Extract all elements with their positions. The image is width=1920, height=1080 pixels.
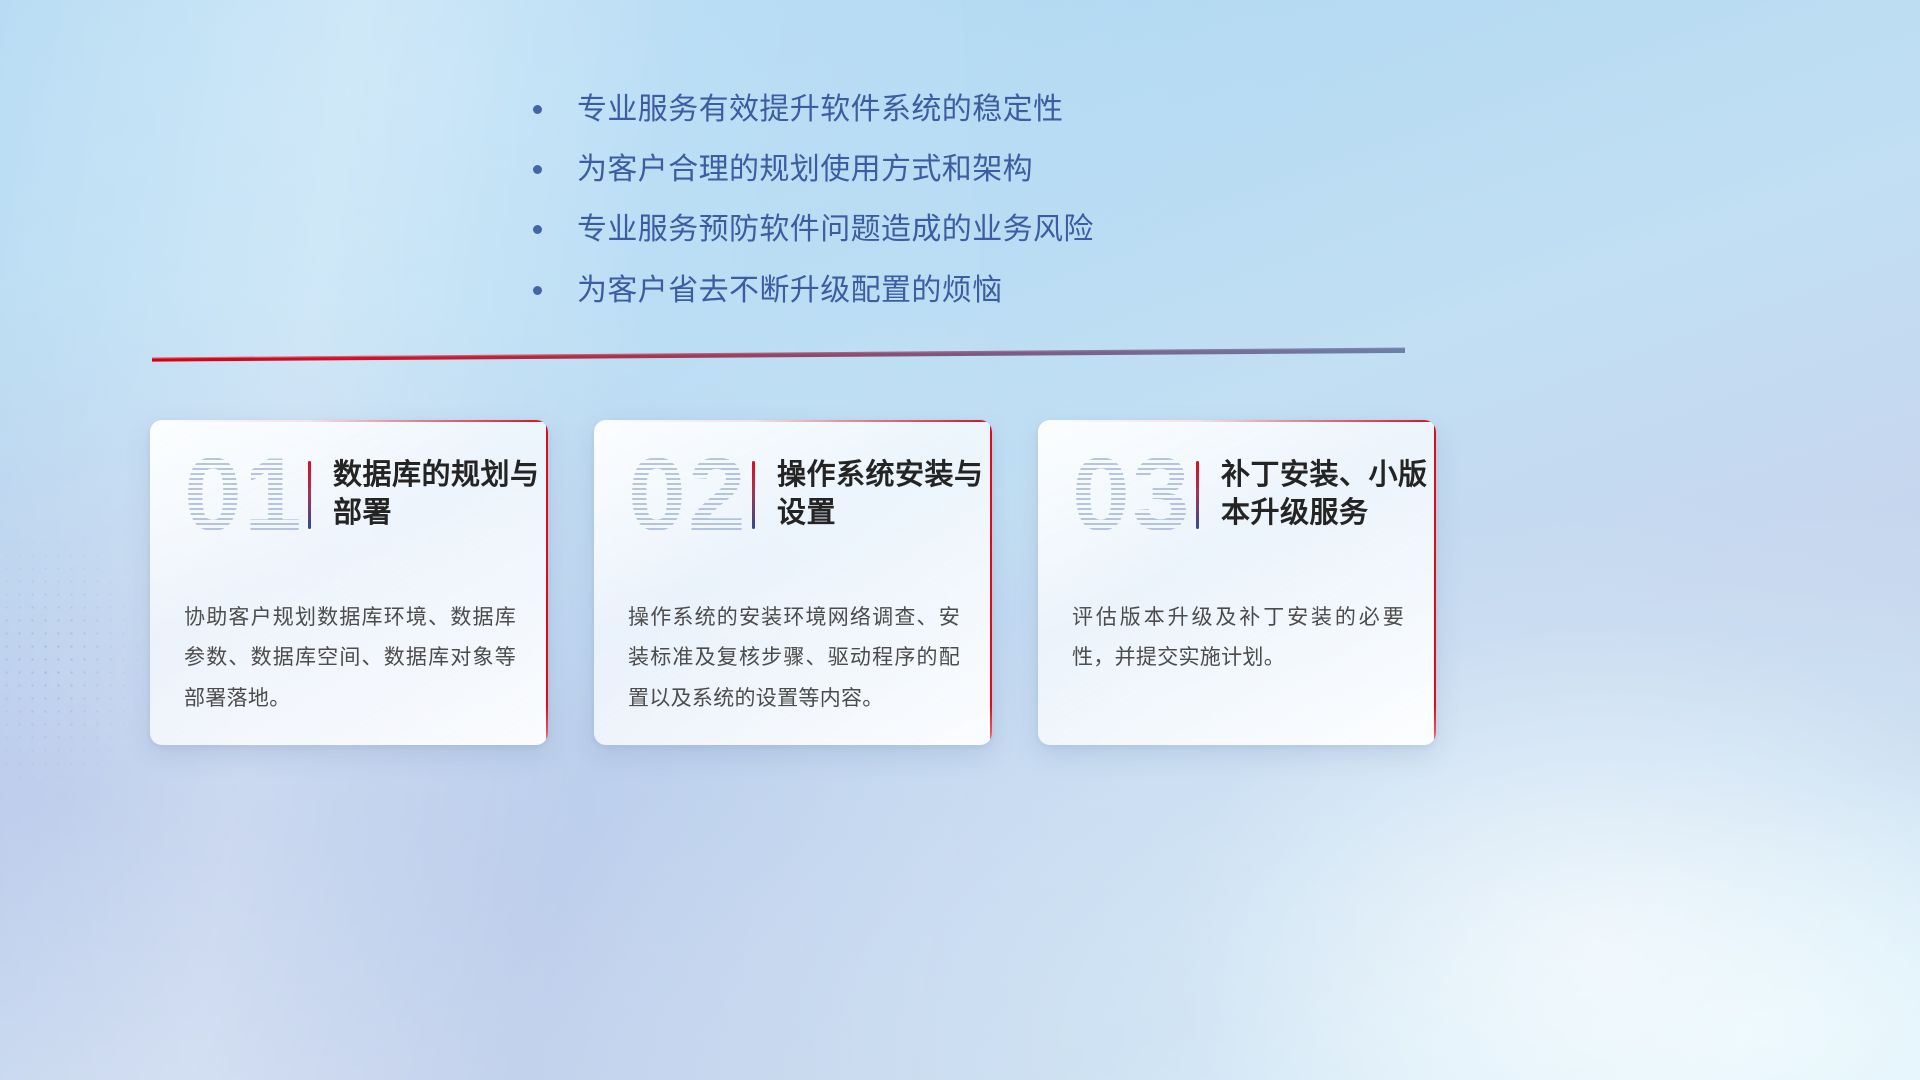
bullet-item: 为客户省去不断升级配置的烦恼 (533, 269, 1253, 312)
bullet-dot-icon (533, 286, 542, 295)
bullet-dot-icon (533, 105, 542, 114)
card-index-number: 02 (628, 443, 750, 547)
card-description: 评估版本升级及补丁安装的必要性，并提交实施计划。 (1038, 570, 1436, 679)
card-description: 操作系统的安装环境网络调查、安装标准及复核步骤、驱动程序的配置以及系统的设置等内… (594, 570, 992, 719)
benefits-bullet-list: 专业服务有效提升软件系统的稳定性 为客户合理的规划使用方式和架构 专业服务预防软… (533, 88, 1253, 329)
service-card[interactable]: 01 数据库的规划与部署 协助客户规划数据库环境、数据库参数、数据库空间、数据库… (150, 420, 548, 745)
title-accent-rule (1196, 461, 1199, 529)
title-accent-rule (752, 461, 755, 529)
card-title: 数据库的规划与部署 (333, 457, 548, 532)
bullet-item: 专业服务预防软件问题造成的业务风险 (533, 208, 1253, 251)
card-header: 03 补丁安装、小版本升级服务 (1038, 420, 1436, 570)
title-accent-rule (308, 461, 311, 529)
bullet-dot-icon (533, 165, 542, 174)
service-card[interactable]: 02 操作系统安装与设置 操作系统的安装环境网络调查、安装标准及复核步骤、驱动程… (594, 420, 992, 745)
bullet-item: 专业服务有效提升软件系统的稳定性 (533, 88, 1253, 131)
service-card[interactable]: 03 补丁安装、小版本升级服务 评估版本升级及补丁安装的必要性，并提交实施计划。 (1038, 420, 1436, 745)
card-title: 操作系统安装与设置 (777, 457, 992, 532)
bullet-item-label: 专业服务预防软件问题造成的业务风险 (577, 208, 1094, 251)
bullet-item: 为客户合理的规划使用方式和架构 (533, 148, 1253, 191)
card-index-number: 01 (184, 443, 306, 547)
card-header: 01 数据库的规划与部署 (150, 420, 548, 570)
service-card-list: 01 数据库的规划与部署 协助客户规划数据库环境、数据库参数、数据库空间、数据库… (150, 420, 1436, 745)
card-title: 补丁安装、小版本升级服务 (1221, 457, 1436, 532)
section-divider-shape (152, 347, 1405, 363)
bullet-dot-icon (533, 225, 542, 234)
slide-root: 专业服务有效提升软件系统的稳定性 为客户合理的规划使用方式和架构 专业服务预防软… (0, 0, 1920, 1080)
bullet-item-label: 专业服务有效提升软件系统的稳定性 (577, 88, 1063, 131)
section-divider (152, 347, 1405, 363)
card-header: 02 操作系统安装与设置 (594, 420, 992, 570)
card-index-number: 03 (1072, 443, 1194, 547)
card-description: 协助客户规划数据库环境、数据库参数、数据库空间、数据库对象等部署落地。 (150, 570, 548, 719)
bullet-item-label: 为客户省去不断升级配置的烦恼 (577, 269, 1003, 312)
bullet-item-label: 为客户合理的规划使用方式和架构 (577, 148, 1033, 191)
